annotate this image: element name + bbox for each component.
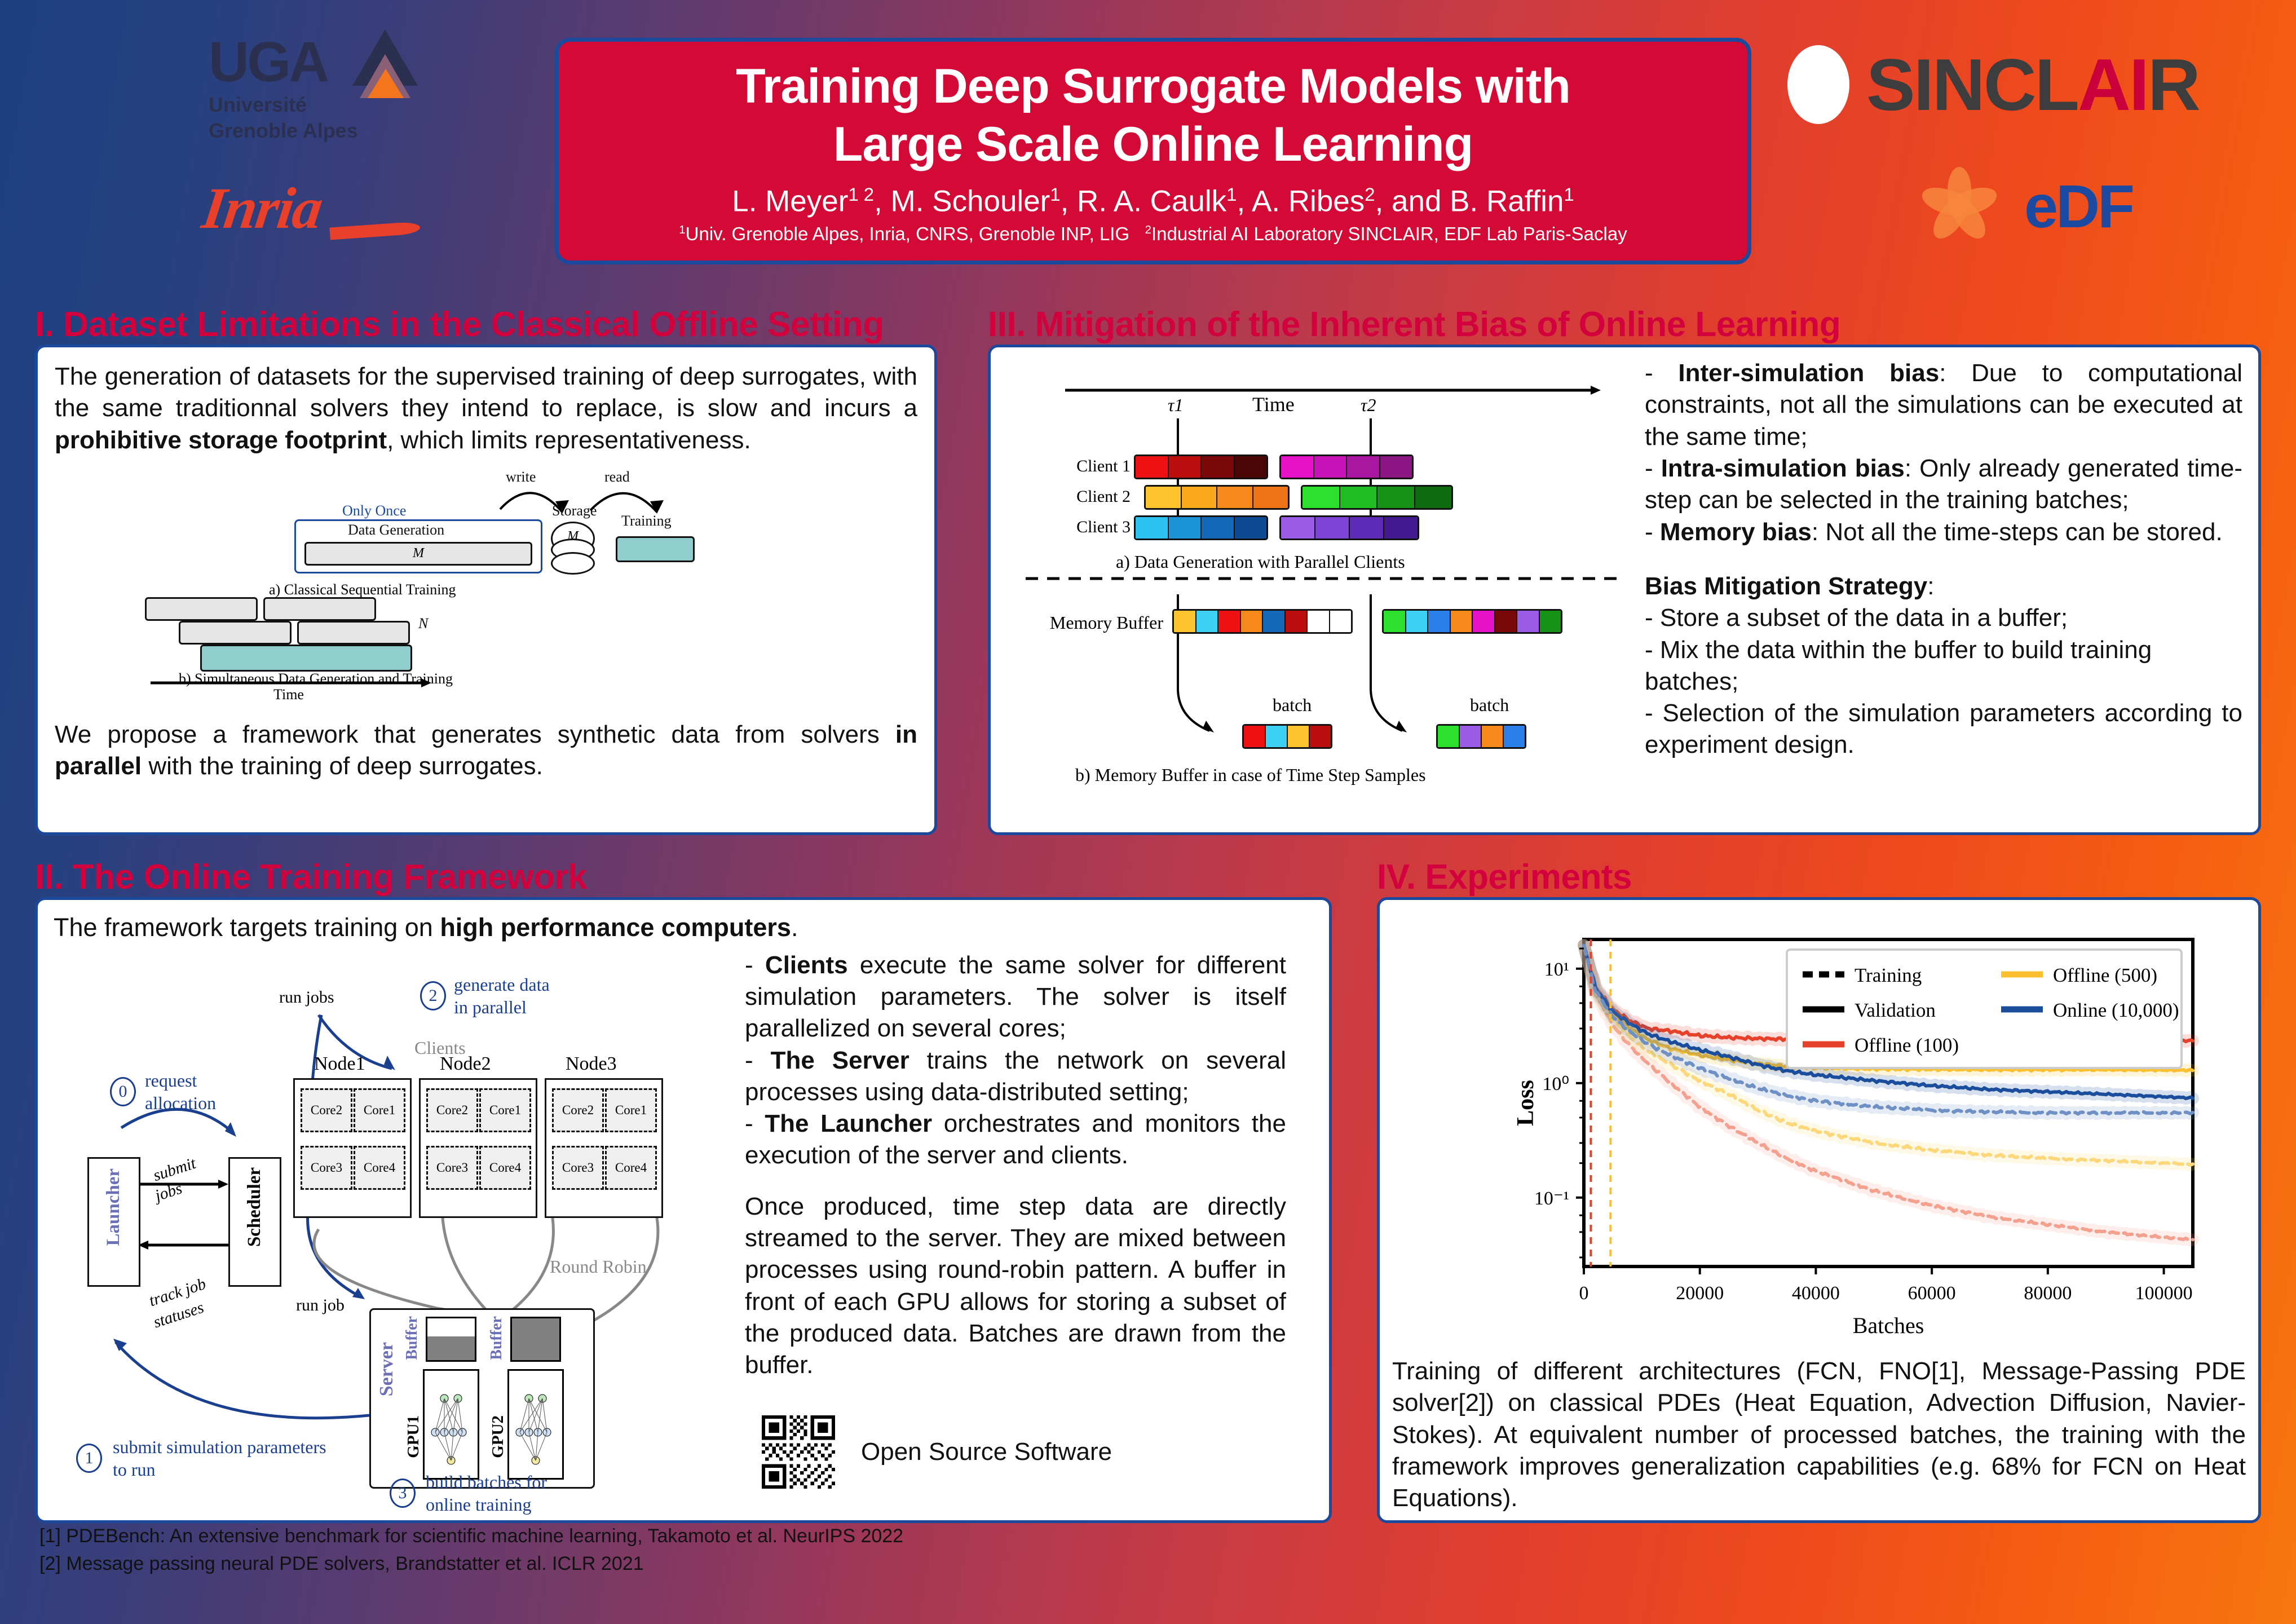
diagram3-batch-2 <box>1436 724 1526 749</box>
diagram1-only-once-label: Only Once <box>342 502 406 519</box>
diagram3-memory-buffer-1 <box>1172 609 1353 634</box>
section2-bullet-2: - The Launcher orchestrates and monitors… <box>745 1108 1286 1172</box>
diagram3-client3-bar1 <box>1134 515 1268 540</box>
diagram2-step0-circle: 0 <box>110 1077 136 1106</box>
diagram1-read-label: read <box>604 469 630 486</box>
diagram1-training-label: Training <box>621 513 672 529</box>
diagram2-submit-params-l2: to run <box>113 1459 156 1480</box>
sinclair-logo: SINCLAIR <box>1787 45 2199 124</box>
diagram1-N-label: N <box>418 615 428 632</box>
poster-title-line2: Large Scale Online Learning <box>833 116 1473 174</box>
diagram1-storage-disc3 <box>551 552 595 575</box>
diagram2-node1-label: Node1 <box>314 1053 365 1075</box>
section2-intro: The framework targets training on high p… <box>54 911 1313 944</box>
edf-flower-icon <box>1917 164 2002 248</box>
poster-title-box: Training Deep Surrogate Models with Larg… <box>555 38 1751 264</box>
s2-introb: . <box>791 913 798 942</box>
diagram1-sim-training-bar <box>200 645 412 672</box>
svg-text:Batches: Batches <box>1853 1313 1924 1338</box>
diagram2-step1-circle: 1 <box>76 1444 102 1473</box>
s2-b0-bold: Clients <box>765 951 848 979</box>
uga-triangle-orange-icon <box>368 69 404 98</box>
diagram2-node3-core3: Core3 <box>552 1146 604 1190</box>
uga-sub-line2: Grenoble Alpes <box>209 120 400 142</box>
section3-strategy-2: - Selection of the simulation parameters… <box>1645 698 2242 761</box>
section3-strategy-0: - Store a subset of the data in a buffer… <box>1645 602 2242 634</box>
sinclair-text-dark2: R <box>2148 43 2199 126</box>
section2-text-column: - Clients execute the same solver for di… <box>745 947 1286 1506</box>
s1-p1a: The generation of datasets for the super… <box>55 363 917 422</box>
s3-b0-prefix: - <box>1645 359 1678 387</box>
section3-text-column: - Inter-simulation bias: Due to computat… <box>1645 358 2242 822</box>
diagram2-step2-label: 2 <box>429 986 438 1005</box>
diagram2-step3-label: 3 <box>399 1484 407 1503</box>
diagram2-node1-core2: Core2 <box>301 1088 352 1132</box>
svg-text:20000: 20000 <box>1676 1283 1724 1304</box>
diagram2-node2-label: Node2 <box>440 1053 491 1075</box>
diagram2-run-jobs-label: run jobs <box>279 988 334 1007</box>
diagram2-request-l2: allocation <box>145 1093 216 1114</box>
section2-paragraph: Once produced, time step data are direct… <box>745 1191 1286 1382</box>
diagram2-node1-core1: Core1 <box>354 1088 405 1132</box>
svg-text:Training: Training <box>1855 964 1922 986</box>
s3-b2-prefix: - <box>1645 518 1660 546</box>
svg-text:60000: 60000 <box>1908 1283 1956 1304</box>
svg-text:80000: 80000 <box>2024 1283 2072 1304</box>
section2-bullet-0: - Clients execute the same solver for di… <box>745 950 1286 1045</box>
poster-affiliations: 1Univ. Grenoble Alpes, Inria, CNRS, Gren… <box>679 223 1627 245</box>
s3-b0-bold: Inter-simulation bias <box>1678 359 1939 387</box>
diagram2-build-batches-l1: build batches for <box>426 1472 547 1493</box>
svg-text:40000: 40000 <box>1792 1283 1840 1304</box>
diagram2-gpu1-label: GPU1 <box>404 1415 423 1458</box>
diagram3-client1-bar2 <box>1279 454 1414 479</box>
diagram2-step3-circle: 3 <box>390 1479 416 1508</box>
diagram3-batch1-label: batch <box>1273 695 1312 716</box>
diagram2-node1-core3: Core3 <box>301 1146 352 1190</box>
diagram2-node3-label: Node3 <box>566 1053 617 1075</box>
diagram2-gpu2-label: GPU2 <box>489 1415 507 1458</box>
diagram2-generate-data-l1: generate data <box>454 974 550 995</box>
open-source-row: Open Source Software <box>762 1415 1286 1489</box>
diagram2-node2-core4: Core4 <box>479 1146 531 1190</box>
section4-title: IV. Experiments <box>1377 857 2261 897</box>
svg-text:0: 0 <box>1579 1283 1589 1304</box>
s2-introa: The framework targets training on <box>54 913 440 942</box>
diagram1-data-generation-label: Data Generation <box>348 522 444 539</box>
diagram3-caption-a: a) Data Generation with Parallel Clients <box>1116 551 1405 572</box>
diagram3-client1-label: Client 1 <box>1029 457 1131 476</box>
svg-text:10¹: 10¹ <box>1544 959 1569 980</box>
edf-wordmark: eDF <box>2024 171 2132 241</box>
section-bias-mitigation: III. Mitigation of the Inherent Bias of … <box>988 304 2261 835</box>
section-dataset-limitations: I. Dataset Limitations in the Classical … <box>35 304 937 835</box>
diagram2-step1-label: 1 <box>85 1449 94 1468</box>
diagram1-caption-a: a) Classical Sequential Training <box>269 581 456 598</box>
svg-text:10⁰: 10⁰ <box>1542 1074 1569 1095</box>
section3-bias-0: - Inter-simulation bias: Due to computat… <box>1645 358 2242 453</box>
section3-strategy-title: Bias Mitigation Strategy: <box>1645 571 2242 602</box>
diagram3-client2-bar1 <box>1144 485 1290 510</box>
references-footer: [1] PDEBench: An extensive benchmark for… <box>39 1522 1505 1578</box>
diagram3-time-label: Time <box>1252 392 1295 416</box>
sinclair-wordmark: SINCLAIR <box>1866 48 2199 121</box>
section1-title: I. Dataset Limitations in the Classical … <box>35 304 937 345</box>
section3-bias-1: - Intra-simulation bias: Only already ge… <box>1645 453 2242 517</box>
section3-panel: τ1 Time τ2 Client 1 Client 2 Client 3 <box>988 345 2261 835</box>
diagram1-write-label: write <box>506 469 536 486</box>
section2-title: II. The Online Training Framework <box>35 857 1332 897</box>
sinclair-text-red: AI <box>2078 43 2148 126</box>
svg-text:Offline (100): Offline (100) <box>1855 1034 1959 1056</box>
diagram3-memory-buffer-label: Memory Buffer <box>1022 612 1163 633</box>
section1-panel: The generation of datasets for the super… <box>35 345 937 835</box>
section-experiments: IV. Experiments 020000400006000080000100… <box>1377 857 2261 1523</box>
s1-p1-bold: prohibitive storage footprint <box>55 426 387 454</box>
section1-diagram: write read Only Once Data Generation M S… <box>55 458 917 695</box>
diagram3-tau2-label: τ2 <box>1361 395 1376 416</box>
diagram2-node3-core4: Core4 <box>605 1146 657 1190</box>
section4-panel: 02000040000600008000010000010⁻¹10⁰10¹Bat… <box>1377 897 2261 1523</box>
diagram3-client2-label: Client 2 <box>1029 487 1131 506</box>
inria-logo: Inria <box>198 175 326 242</box>
s2-b1-prefix: - <box>745 1047 771 1074</box>
s3-b2-text: : Not all the time-steps can be stored. <box>1812 518 2223 546</box>
diagram3-client3-bar2 <box>1279 515 1419 540</box>
svg-text:10⁻¹: 10⁻¹ <box>1534 1188 1569 1209</box>
section4-caption: Training of different architectures (FCN… <box>1392 1356 2246 1515</box>
diagram1-gen-bar-3 <box>179 621 292 645</box>
diagram3-memory-buffer-2 <box>1382 609 1562 634</box>
loss-chart: 02000040000600008000010000010⁻¹10⁰10¹Bat… <box>1392 911 2246 1345</box>
sinclair-dot-icon <box>1787 45 1849 124</box>
section-online-training-framework: II. The Online Training Framework The fr… <box>35 857 1332 1523</box>
diagram1-storage-label: Storage <box>552 502 597 519</box>
diagram3-tau1-label: τ1 <box>1168 395 1183 416</box>
diagram2-step2-circle: 2 <box>420 981 446 1010</box>
s2-b0-prefix: - <box>745 951 765 979</box>
diagram2-buffer2-box <box>510 1317 561 1362</box>
section1-paragraph1: The generation of datasets for the super… <box>55 361 917 456</box>
section1-paragraph2: We propose a framework that generates sy… <box>55 719 917 783</box>
section3-bias-2: - Memory bias: Not all the time-steps ca… <box>1645 517 2242 548</box>
diagram2-round-robin-label: Round Robin <box>550 1256 647 1277</box>
s2-intro-bold: high performance computers <box>440 913 791 942</box>
edf-logo: eDF <box>1917 164 2132 248</box>
diagram3-client2-bar2 <box>1301 485 1453 510</box>
section2-panel: The framework targets training on high p… <box>35 897 1332 1523</box>
section3-strategy-1: - Mix the data within the buffer to buil… <box>1645 634 2242 698</box>
poster-authors: L. Meyer1 2, M. Schouler1, R. A. Caulk1,… <box>732 184 1574 219</box>
diagram2-generate-data-l2: in parallel <box>454 997 527 1018</box>
diagram2-run-job-label: run job <box>296 1296 345 1315</box>
loss-chart-svg: 02000040000600008000010000010⁻¹10⁰10¹Bat… <box>1392 911 2244 1345</box>
diagram2-node1-core4: Core4 <box>354 1146 405 1190</box>
diagram1-M-label: M <box>413 546 424 561</box>
svg-text:100000: 100000 <box>2135 1283 2193 1304</box>
diagram3-client1-bar1 <box>1134 454 1268 479</box>
section2-diagram: run jobs 2 generate data in parallel Cli… <box>54 947 736 1506</box>
s1-p1b: , which limits representativeness. <box>387 426 751 454</box>
open-source-label: Open Source Software <box>861 1438 1112 1466</box>
s3-b2-bold: Memory bias <box>1660 518 1812 546</box>
diagram2-submit-params-l1: submit simulation parameters <box>113 1437 326 1458</box>
diagram3-batch2-label: batch <box>1470 695 1509 716</box>
diagram2-request-l1: request <box>145 1070 197 1091</box>
diagram1-time-label: Time <box>273 686 304 703</box>
diagram1-training-bar <box>616 536 695 562</box>
s2-b1-bold: The Server <box>771 1047 909 1074</box>
diagram1-caption-b: b) Simultaneous Data Generation and Trai… <box>179 670 453 687</box>
diagram1-M-bar: M <box>304 542 532 566</box>
diagram3-batch-1 <box>1242 724 1332 749</box>
diagram1-gen-bar-4 <box>297 621 410 645</box>
reference-1: [1] PDEBench: An extensive benchmark for… <box>39 1522 1505 1550</box>
diagram2-launcher-label: Launcher <box>103 1168 124 1246</box>
inria-swoosh-icon <box>329 221 420 240</box>
diagram2-build-batches-l2: online training <box>426 1494 532 1515</box>
reference-2: [2] Message passing neural PDE solvers, … <box>39 1550 1505 1578</box>
diagram2-server-label: Server <box>376 1342 398 1396</box>
diagram1-gen-bar-1 <box>145 597 258 621</box>
diagram3-caption-b: b) Memory Buffer in case of Time Step Sa… <box>1075 765 1426 785</box>
diagram2-node3-core1: Core1 <box>605 1088 657 1132</box>
diagram2-buffer2-label: Buffer <box>488 1316 506 1360</box>
svg-text:Online (10,000): Online (10,000) <box>2053 999 2179 1021</box>
s3-b1-prefix: - <box>1645 454 1661 482</box>
diagram2-node2-core2: Core2 <box>426 1088 478 1132</box>
diagram1-gen-bar-2 <box>263 597 376 621</box>
s2-b2-bold: The Launcher <box>765 1110 932 1137</box>
s1-p2a: We propose a framework that generates sy… <box>55 721 895 748</box>
sinclair-text-dark: SINCL <box>1866 43 2078 126</box>
diagram2-node2-core1: Core1 <box>479 1088 531 1132</box>
diagram2-buffer1-fill <box>427 1336 475 1360</box>
diagram2-buffer1-label: Buffer <box>403 1316 421 1360</box>
s3-strategy-title-text: Bias Mitigation Strategy <box>1645 572 1927 600</box>
diagram2-node3-core2: Core2 <box>552 1088 604 1132</box>
poster-header: UGA Université Grenoble Alpes Inria Trai… <box>0 0 2296 282</box>
diagram2-scheduler-label: Scheduler <box>244 1167 265 1247</box>
diagram3-client3-label: Client 3 <box>1029 518 1131 537</box>
svg-text:Loss: Loss <box>1513 1080 1539 1126</box>
section3-title: III. Mitigation of the Inherent Bias of … <box>988 304 2261 345</box>
uga-logo: UGA Université Grenoble Alpes <box>209 34 400 124</box>
qr-code-icon[interactable] <box>762 1415 835 1489</box>
poster-title-line1: Training Deep Surrogate Models with <box>736 58 1570 116</box>
s1-p2b: with the training of deep surrogates. <box>142 752 543 780</box>
section2-bullet-1: - The Server trains the network on sever… <box>745 1045 1286 1109</box>
diagram2-node2-core3: Core3 <box>426 1146 478 1190</box>
svg-text:Validation: Validation <box>1855 999 1936 1021</box>
s3-b1-bold: Intra-simulation bias <box>1661 454 1905 482</box>
s2-b2-prefix: - <box>745 1110 765 1137</box>
diagram2-step0-label: 0 <box>119 1082 127 1101</box>
svg-text:Offline (500): Offline (500) <box>2053 964 2157 986</box>
section3-diagram: τ1 Time τ2 Client 1 Client 2 Client 3 <box>1003 358 1635 820</box>
